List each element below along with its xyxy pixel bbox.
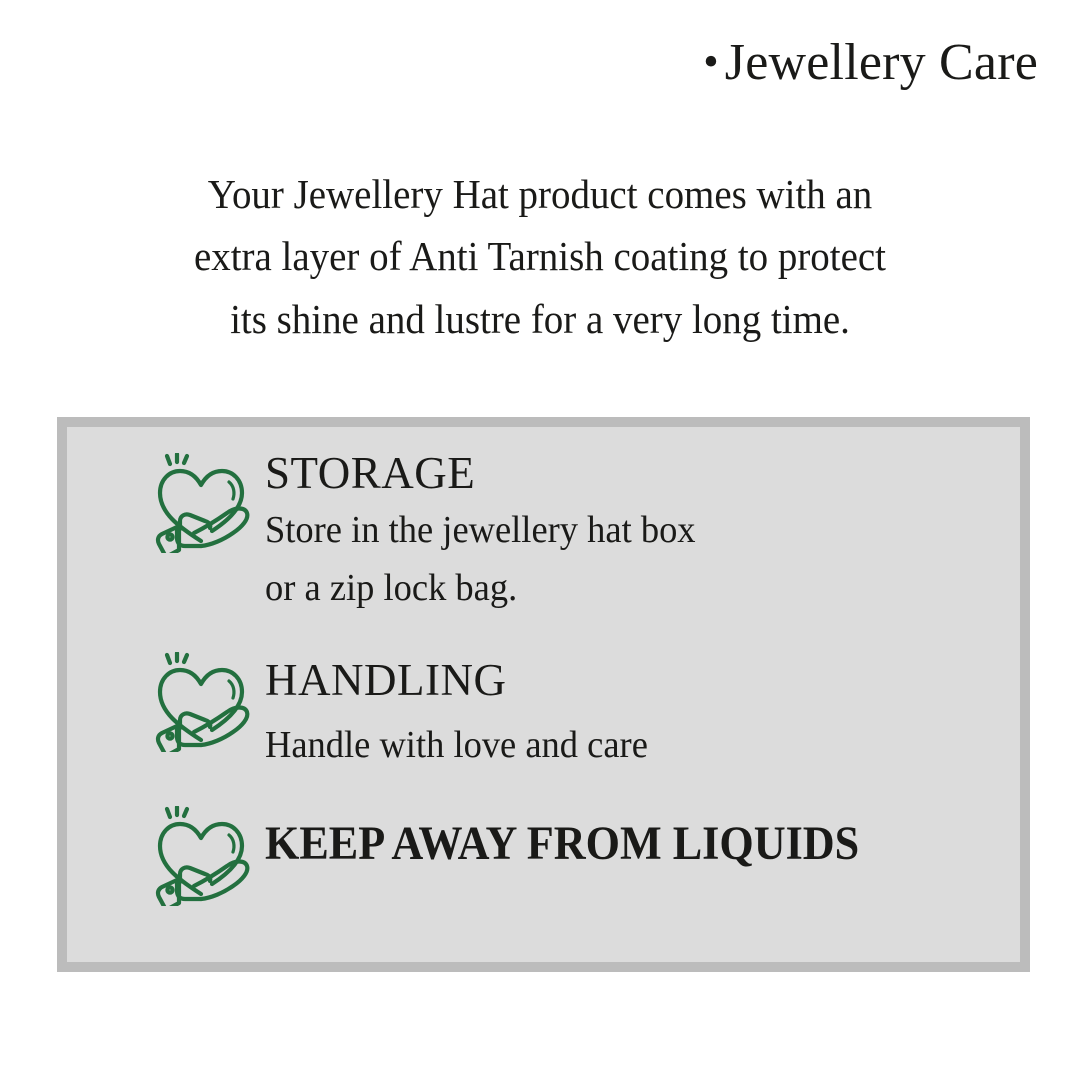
page-title-text: Jewellery Care (725, 34, 1038, 91)
care-item-storage-text: STORAGE Store in the jewellery hat box o… (265, 449, 1020, 618)
care-item-liquids-text: KEEP AWAY FROM LIQUIDS (265, 802, 1020, 874)
care-instructions-list: STORAGE Store in the jewellery hat box o… (67, 427, 1020, 962)
care-item-storage-desc-line-2: or a zip lock bag. (265, 560, 990, 618)
care-item-storage-description: Store in the jewellery hat box or a zip … (265, 502, 990, 618)
care-item-handling-description: Handle with love and care (265, 717, 990, 775)
intro-line-2: extra layer of Anti Tarnish coating to p… (94, 225, 987, 287)
care-item-storage-desc-line-1: Store in the jewellery hat box (265, 502, 990, 560)
care-item-storage: STORAGE Store in the jewellery hat box o… (149, 449, 1020, 618)
heart-in-hand-icon (149, 652, 253, 752)
care-item-handling: HANDLING Handle with love and care (149, 648, 1020, 775)
care-instructions-panel: STORAGE Store in the jewellery hat box o… (57, 417, 1030, 972)
care-item-liquids-heading: KEEP AWAY FROM LIQUIDS (265, 820, 960, 868)
heart-in-hand-icon (149, 806, 253, 906)
intro-paragraph: Your Jewellery Hat product comes with an… (94, 163, 987, 350)
title-bullet-icon: • (703, 38, 719, 86)
heart-in-hand-icon (149, 453, 253, 553)
page-title: •Jewellery Care (703, 34, 1038, 91)
intro-line-1: Your Jewellery Hat product comes with an (94, 163, 987, 225)
care-item-handling-desc-line-1: Handle with love and care (265, 717, 990, 775)
care-item-handling-text: HANDLING Handle with love and care (265, 648, 1020, 775)
care-item-liquids: KEEP AWAY FROM LIQUIDS (149, 802, 1020, 906)
care-item-storage-heading: STORAGE (265, 451, 1020, 496)
intro-line-3: its shine and lustre for a very long tim… (94, 288, 987, 350)
care-item-handling-heading: HANDLING (265, 658, 1020, 703)
